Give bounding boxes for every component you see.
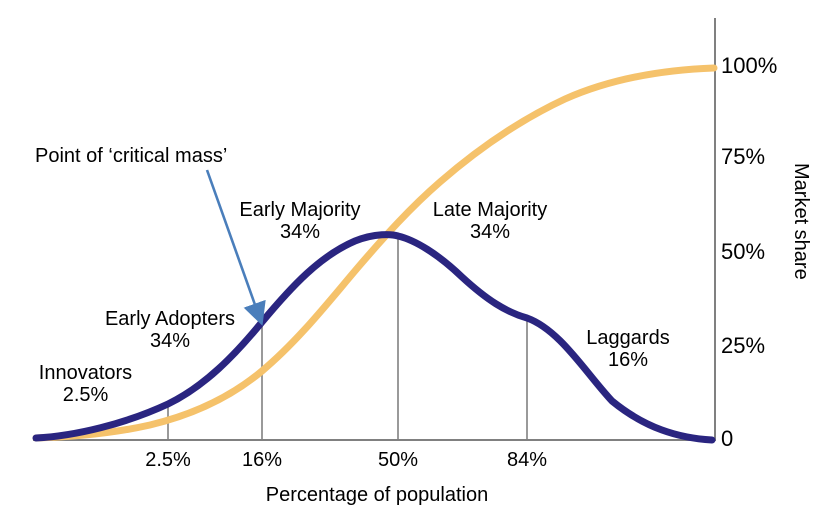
y-tick-label-0: 0 — [721, 427, 733, 452]
y-tick-label-25: 25% — [721, 334, 765, 359]
y-tick-label-75: 75% — [721, 145, 765, 170]
segment-name: Laggards — [548, 327, 708, 349]
chart-plot-area — [0, 0, 829, 524]
segment-percentage: 2.5% — [0, 384, 178, 406]
segment-name: Late Majority — [400, 199, 580, 221]
y-tick-label-100: 100% — [721, 54, 777, 79]
segment-name: Early Adopters — [70, 308, 270, 330]
segment-label-early-majority: Early Majority 34% — [205, 199, 395, 244]
y-tick-label-50: 50% — [721, 240, 765, 265]
segment-percentage: 34% — [70, 330, 270, 352]
segment-percentage: 34% — [400, 221, 580, 243]
annotation-critical-mass: Point of ‘critical mass’ — [35, 145, 227, 167]
x-tick-label-84: 84% — [482, 449, 572, 471]
x-tick-label-50: 50% — [353, 449, 443, 471]
segment-label-innovators: Innovators 2.5% — [0, 362, 178, 407]
x-axis-title: Percentage of population — [177, 484, 577, 506]
x-tick-label-2-5: 2.5% — [123, 449, 213, 471]
segment-percentage: 16% — [548, 349, 708, 371]
segment-label-late-majority: Late Majority 34% — [400, 199, 580, 244]
segment-name: Early Majority — [205, 199, 395, 221]
diffusion-of-innovation-chart: Point of ‘critical mass’ Innovators 2.5%… — [0, 0, 829, 524]
x-tick-label-16: 16% — [217, 449, 307, 471]
segment-label-early-adopters: Early Adopters 34% — [70, 308, 270, 353]
segment-percentage: 34% — [205, 221, 395, 243]
segment-name: Innovators — [0, 362, 178, 384]
y-axis-title: Market share — [790, 163, 812, 280]
segment-label-laggards: Laggards 16% — [548, 327, 708, 372]
